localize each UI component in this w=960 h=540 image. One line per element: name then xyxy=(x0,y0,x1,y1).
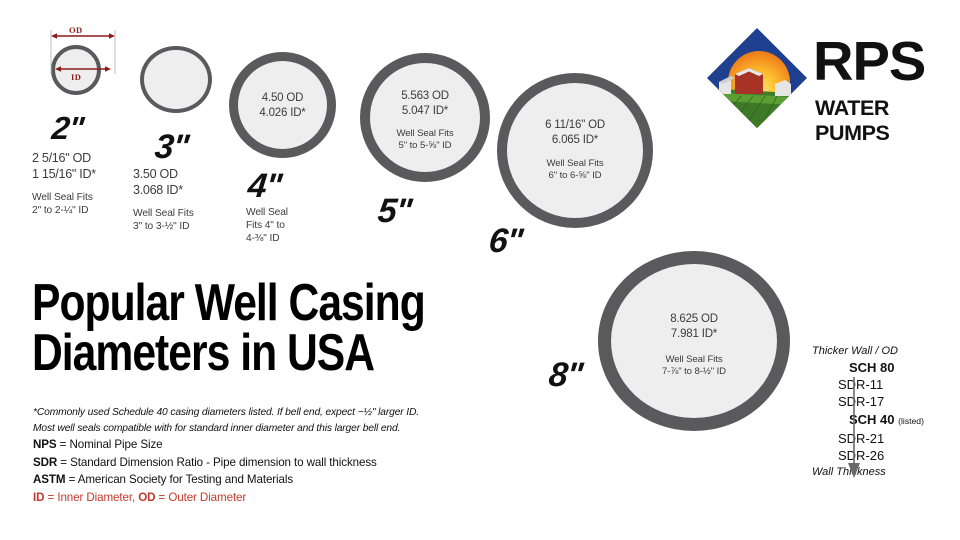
legend-text-astm: = American Society for Testing and Mater… xyxy=(65,473,293,486)
legend-text-sdr: = Standard Dimension Ratio - Pipe dimens… xyxy=(57,456,377,469)
pipe-id-5in: 5.047 ID* xyxy=(370,104,480,119)
legend-def-sdr: SDR = Standard Dimension Ratio - Pipe di… xyxy=(33,454,503,472)
od-id-arrows-icon xyxy=(36,24,120,102)
legend-text-nps: = Nominal Pipe Size xyxy=(57,438,163,451)
pipe-id-6in: 6.065 ID* xyxy=(507,133,643,148)
pipe-od-4in: 4.50 OD xyxy=(238,91,327,106)
brand-name: RPS xyxy=(813,34,925,89)
pipe-seal-title-6in: Well Seal Fits xyxy=(507,158,643,170)
pipe-seal-title-3in: Well Seal Fits xyxy=(133,207,243,220)
pipe-seal-title-5in: Well Seal Fits xyxy=(370,128,480,140)
pipe-seal-range-5in: 5" to 5-⅝" ID xyxy=(370,140,480,152)
pipe-circle-5in: 5.563 OD 5.047 ID* Well Seal Fits 5" to … xyxy=(360,53,490,182)
pipe-seal-range-3in: 3" to 3-½" ID xyxy=(133,220,243,233)
wall-scale-bottom-caption: Wall Thickness xyxy=(812,465,960,480)
od-callout-label: OD xyxy=(69,25,83,35)
wall-scale-row-sch80: SCH 80 xyxy=(838,359,960,376)
pipe-circle-6in: 6 11/16" OD 6.065 ID* Well Seal Fits 6" … xyxy=(497,73,653,228)
pipe-seal-range-2in: 2" to 2-¼" ID xyxy=(32,204,142,217)
legend-block: *Commonly used Schedule 40 casing diamet… xyxy=(33,405,503,506)
pipe-seal-line2-4in: Fits 4" to xyxy=(246,219,336,232)
size-label-5in: 5" xyxy=(376,192,413,231)
pipe-id-3in: 3.068 ID* xyxy=(133,182,243,198)
pipe-od-2in: 2 5/16" OD xyxy=(32,150,142,166)
pipe-seal-title-2in: Well Seal Fits xyxy=(32,191,142,204)
pipe-od-8in: 8.625 OD xyxy=(611,312,777,327)
size-label-2in: 2" xyxy=(50,110,85,147)
pipe-spec-2in: 2 5/16" OD 1 15/16" ID* Well Seal Fits 2… xyxy=(32,150,142,217)
pipe-circle-4in: 4.50 OD 4.026 ID* xyxy=(229,52,336,158)
pipe-seal-range-6in: 6" to 6-⅝" ID xyxy=(507,170,643,182)
size-label-3in: 3" xyxy=(153,128,190,167)
pipe-id-8in: 7.981 ID* xyxy=(611,327,777,342)
infographic-canvas: OD ID 2" 2 5/16" OD 1 15/16" ID* Well Se… xyxy=(0,0,960,540)
pipe-seal-range-8in: 7-⅞" to 8-½" ID xyxy=(611,366,777,378)
wall-scale-sch40-note: (listed) xyxy=(898,416,924,426)
pipe-id-4in: 4.026 ID* xyxy=(238,106,327,121)
pipe-od-3in: 3.50 OD xyxy=(133,166,243,182)
legend-text-id: = Inner Diameter, xyxy=(44,491,138,504)
size-label-4in: 4" xyxy=(246,167,283,206)
farm-sunset-diamond-logo-icon xyxy=(705,26,809,130)
wall-scale-top-caption: Thicker Wall / OD xyxy=(812,344,960,359)
legend-def-nps: NPS = Nominal Pipe Size xyxy=(33,436,503,454)
wall-thickness-scale: Thicker Wall / OD SCH 80 SDR-11 SDR-17 S… xyxy=(812,344,960,480)
pipe-spec-3in: 3.50 OD 3.068 ID* Well Seal Fits 3" to 3… xyxy=(133,166,243,233)
brand-logo: RPS WATER PUMPS xyxy=(705,26,955,131)
size-label-8in: 8" xyxy=(547,356,584,395)
od-id-callout: OD ID xyxy=(36,24,120,102)
wall-scale-rows: SCH 80 SDR-11 SDR-17 SCH 40 (listed) SDR… xyxy=(838,359,960,464)
pipe-circle-3in xyxy=(140,46,212,113)
pipe-circle-8in: 8.625 OD 7.981 ID* Well Seal Fits 7-⅞" t… xyxy=(598,251,790,431)
pipe-seal-title-8in: Well Seal Fits xyxy=(611,354,777,366)
legend-note-1: *Commonly used Schedule 40 casing diamet… xyxy=(33,405,503,421)
page-title: Popular Well Casing Diameters in USA xyxy=(32,278,458,378)
pipe-id-2in: 1 15/16" ID* xyxy=(32,166,142,182)
legend-term-sdr: SDR xyxy=(33,456,57,469)
pipe-od-5in: 5.563 OD xyxy=(370,89,480,104)
brand-tagline: WATER PUMPS xyxy=(815,96,955,146)
legend-text-od: = Outer Diameter xyxy=(155,491,246,504)
legend-term-astm: ASTM xyxy=(33,473,65,486)
id-callout-label: ID xyxy=(71,72,81,82)
pipe-od-6in: 6 11/16" OD xyxy=(507,118,643,133)
legend-term-id: ID xyxy=(33,491,44,504)
pipe-seal-line3-4in: 4-⅜" ID xyxy=(246,232,336,245)
legend-note-2: Most well seals compatible with for stan… xyxy=(33,421,503,437)
pipe-seal-title-4in: Well Seal xyxy=(246,206,336,219)
size-label-6in: 6" xyxy=(487,222,524,261)
legend-def-id-od: ID = Inner Diameter, OD = Outer Diameter xyxy=(33,489,503,507)
pipe-spec-4in: Well Seal Fits 4" to 4-⅜" ID xyxy=(246,206,336,245)
legend-term-nps: NPS xyxy=(33,438,57,451)
down-arrow-icon xyxy=(846,377,862,479)
legend-def-astm: ASTM = American Society for Testing and … xyxy=(33,471,503,489)
page-title-line2: Diameters in USA xyxy=(32,328,458,378)
legend-term-od: OD xyxy=(138,491,155,504)
